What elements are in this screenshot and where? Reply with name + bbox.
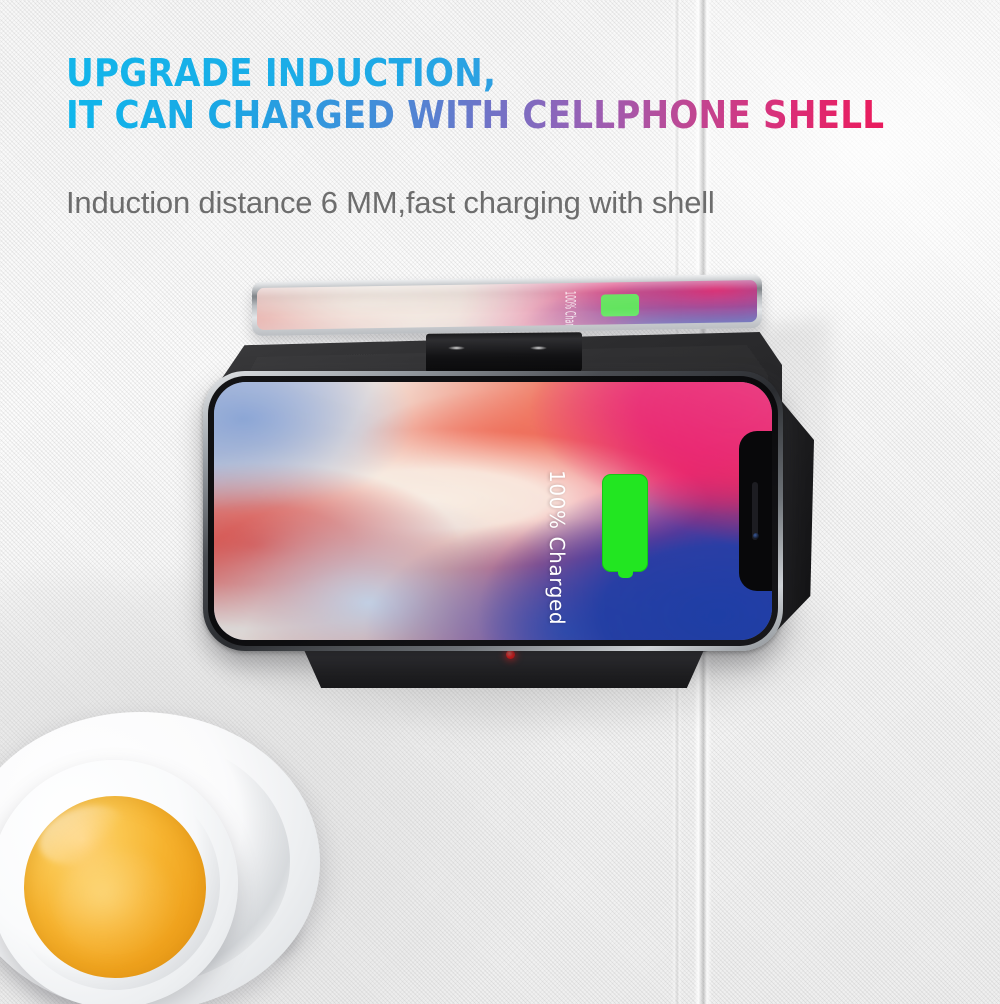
front-camera-icon — [753, 533, 759, 539]
earpiece-speaker-icon — [752, 482, 758, 540]
screen-glass-sheen — [214, 382, 772, 640]
battery-icon — [602, 474, 648, 572]
phone-holder-bracket — [426, 332, 582, 374]
smartphone-screen: 100% Charged — [214, 382, 772, 640]
bracket-highlight-right — [530, 346, 547, 350]
tea-swirl — [56, 850, 174, 960]
battery-icon-nub — [618, 570, 633, 578]
product-scene: 100% Charged 100% Charged — [0, 0, 1000, 1004]
floating-phone-glass-reflection — [252, 274, 762, 336]
charging-indicator-led — [506, 650, 515, 659]
tea-cup — [0, 700, 360, 1004]
charging-status-text: 100% Charged — [545, 470, 569, 625]
smartphone: 100% Charged — [203, 371, 783, 651]
screen-notch — [739, 431, 772, 591]
promo-banner: UPGRADE INDUCTION, IT CAN CHARGED WITH C… — [0, 0, 1000, 1004]
floating-phone: 100% Charged — [252, 274, 762, 336]
bracket-highlight-left — [448, 346, 465, 350]
